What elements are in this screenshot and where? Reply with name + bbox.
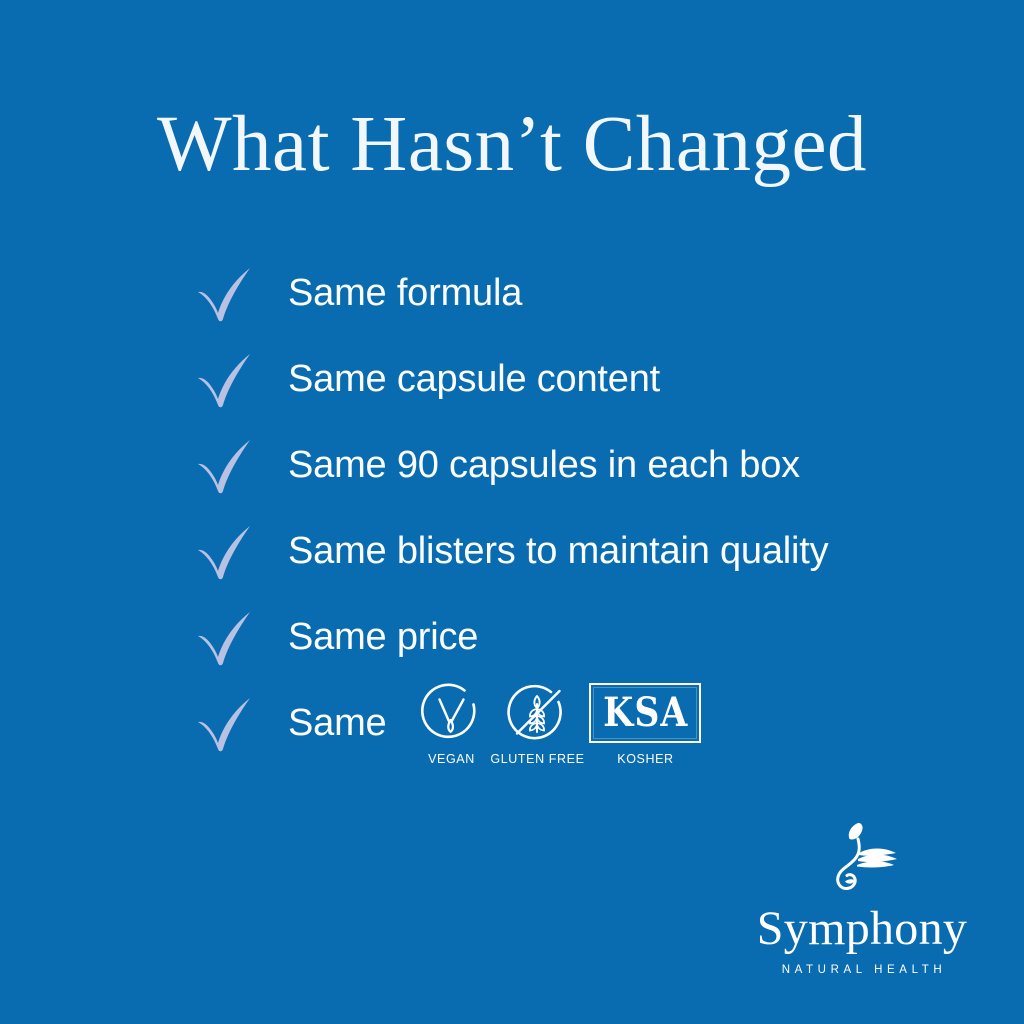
badge-caption: GLUTEN FREE <box>490 752 584 766</box>
vegan-icon <box>420 681 482 745</box>
brand-logo: Symphony NATURAL HEALTH <box>748 819 976 976</box>
brand-name: Symphony <box>757 905 967 953</box>
kosher-ksa-icon: KSA <box>589 681 701 745</box>
list-item: Same VEGAN <box>190 680 970 766</box>
badge-caption: KOSHER <box>617 752 673 766</box>
badge-vegan: VEGAN <box>408 681 494 766</box>
checkmark-icon <box>194 692 256 754</box>
certification-badges: VEGAN <box>408 681 710 766</box>
checkmark-icon <box>194 606 256 668</box>
brand-tagline: NATURAL HEALTH <box>778 964 947 976</box>
list-item-label: Same blisters to maintain quality <box>288 532 828 570</box>
symphony-leaf-mark-icon <box>814 819 910 903</box>
list-item-label: Same capsule content <box>288 360 660 398</box>
checkmark-icon <box>194 520 256 582</box>
checkmark-icon <box>194 348 256 410</box>
kosher-ksa-text: KSA <box>603 692 688 732</box>
checklist: Same formula Same capsule content Same 9… <box>190 250 970 766</box>
list-item-label: Same <box>288 704 386 742</box>
list-item-label: Same formula <box>288 274 522 312</box>
badge-kosher: KSA KOSHER <box>580 681 710 766</box>
list-item-label: Same 90 capsules in each box <box>288 446 800 484</box>
list-item: Same capsule content <box>190 336 970 422</box>
list-item: Same blisters to maintain quality <box>190 508 970 594</box>
page-title: What Hasn’t Changed <box>0 104 1024 187</box>
badge-caption: VEGAN <box>428 752 475 766</box>
badge-gluten-free: GLUTEN FREE <box>494 681 580 766</box>
gluten-free-icon <box>506 681 568 745</box>
list-item-label: Same price <box>288 618 478 656</box>
list-item: Same price <box>190 594 970 680</box>
checkmark-icon <box>194 262 256 324</box>
poster-canvas: What Hasn’t Changed Same formula Same ca… <box>0 0 1024 1024</box>
list-item: Same 90 capsules in each box <box>190 422 970 508</box>
list-item: Same formula <box>190 250 970 336</box>
checkmark-icon <box>194 434 256 496</box>
